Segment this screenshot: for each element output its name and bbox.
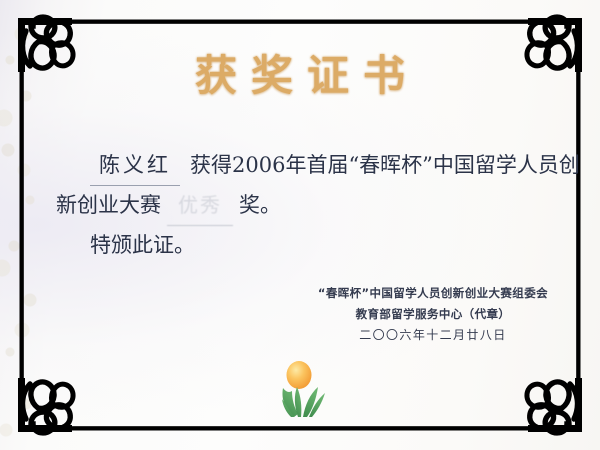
award-level-field: 优秀	[167, 186, 233, 226]
body-line-1: 陈义红获得2006年首届“春晖杯”中国留学人员创	[56, 146, 556, 186]
certificate-body: 陈义红获得2006年首届“春晖杯”中国留学人员创 新创业大赛优秀奖。 特颁此证。	[56, 146, 556, 264]
logo-sun	[287, 361, 312, 389]
issue-date: 二〇〇六年十二月廿八日	[318, 325, 548, 346]
body-line-3: 特颁此证。	[56, 226, 556, 264]
signature-block: “春晖杯”中国留学人员创新创业大赛组委会 教育部留学服务中心（代章） 二〇〇六年…	[318, 283, 548, 346]
certificate-page: 获奖证书 陈义红获得2006年首届“春晖杯”中国留学人员创 新创业大赛优秀奖。 …	[0, 0, 600, 450]
chunhui-cup-logo-icon	[272, 358, 330, 418]
recipient-name-field: 陈义红	[90, 146, 180, 186]
certificate-title: 获奖证书	[0, 42, 600, 103]
logo-leaves	[282, 387, 325, 417]
body-line-2-suffix: 奖。	[239, 193, 281, 217]
issuing-organization: “春晖杯”中国留学人员创新创业大赛组委会	[318, 283, 548, 304]
body-line-2-prefix: 新创业大赛	[56, 193, 161, 217]
body-line-3-text: 特颁此证。	[90, 233, 195, 257]
body-line-2: 新创业大赛优秀奖。	[56, 186, 556, 226]
body-line-1-text: 获得2006年首届“春晖杯”中国留学人员创	[190, 153, 580, 177]
seal-authority: 教育部留学服务中心（代章）	[318, 304, 548, 325]
